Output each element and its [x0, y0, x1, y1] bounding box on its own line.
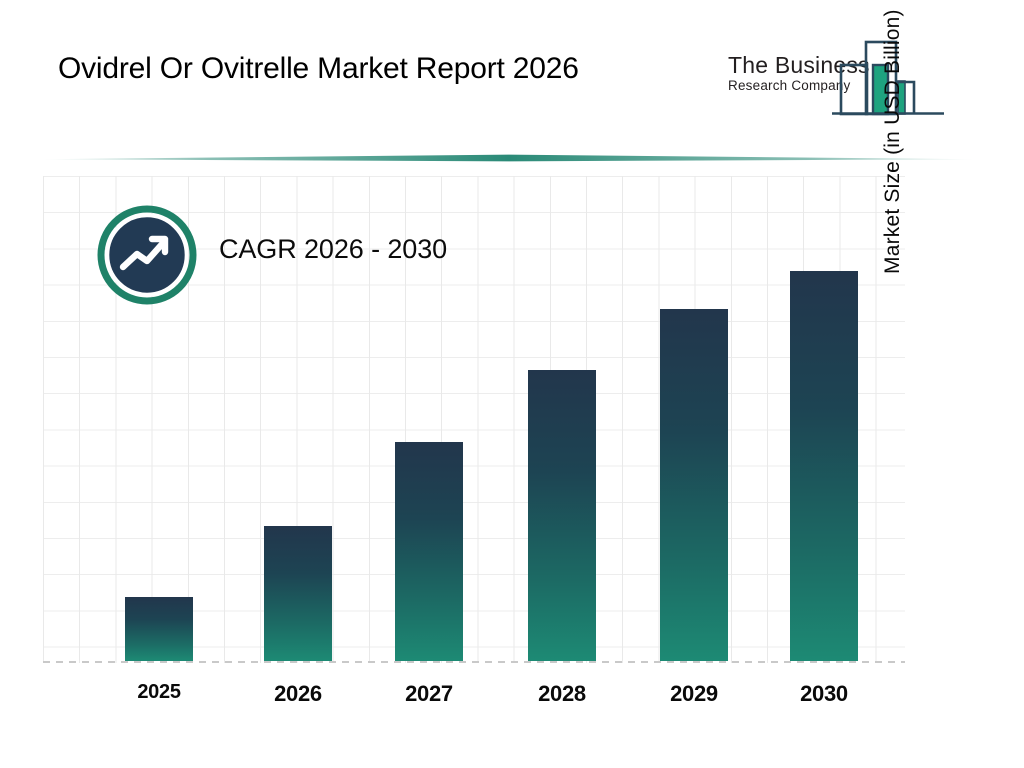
- company-logo: The Business Research Company: [728, 36, 978, 122]
- bar-2030: [790, 271, 858, 661]
- bar-2027: [395, 442, 463, 661]
- header: Ovidrel Or Ovitrelle Market Report 2026 …: [0, 0, 1024, 140]
- bar-2028: [528, 370, 596, 661]
- x-axis-label-2027: 2027: [379, 681, 479, 707]
- cagr-label: CAGR 2026 - 2030: [219, 234, 447, 265]
- x-axis-label-2029: 2029: [644, 681, 744, 707]
- bar-chart-logo-mark-icon: [832, 36, 978, 122]
- y-axis-label: Market Size (in USD Billion): [881, 0, 905, 274]
- trending-up-icon: [97, 205, 197, 305]
- x-axis-label-2030: 2030: [774, 681, 874, 707]
- bar-2029: [660, 309, 728, 661]
- x-axis-label-2025: 2025: [109, 681, 209, 704]
- x-axis-label-2026: 2026: [248, 681, 348, 707]
- page-title: Ovidrel Or Ovitrelle Market Report 2026: [58, 52, 579, 86]
- bar-2026: [264, 526, 332, 661]
- chart-baseline: [43, 661, 905, 663]
- bar-2025: [125, 597, 193, 661]
- section-divider: [44, 152, 974, 164]
- x-axis-label-2028: 2028: [512, 681, 612, 707]
